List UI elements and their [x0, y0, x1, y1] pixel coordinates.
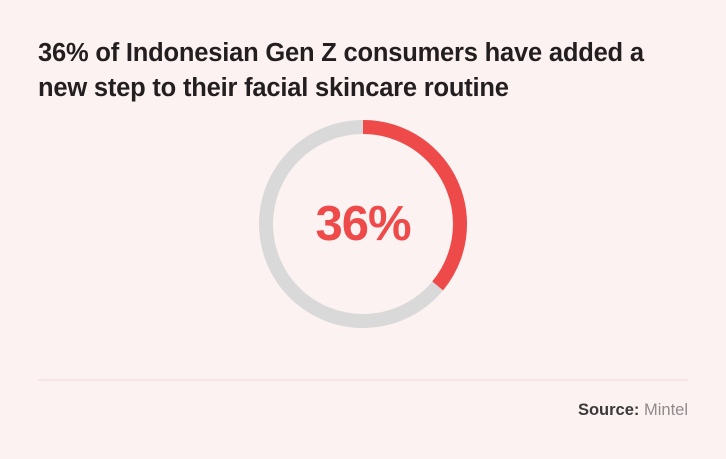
donut-svg — [257, 118, 469, 330]
donut-chart-graphic: 36% — [257, 118, 469, 330]
source-line: Source: Mintel — [578, 400, 688, 421]
source-label: Source: — [578, 401, 639, 419]
page-title: 36% of Indonesian Gen Z consumers have a… — [38, 36, 694, 106]
donut-chart: 36% — [0, 118, 726, 358]
footer-divider — [38, 379, 688, 381]
source-name: Mintel — [644, 401, 688, 419]
infographic-card: 36% of Indonesian Gen Z consumers have a… — [0, 0, 726, 459]
